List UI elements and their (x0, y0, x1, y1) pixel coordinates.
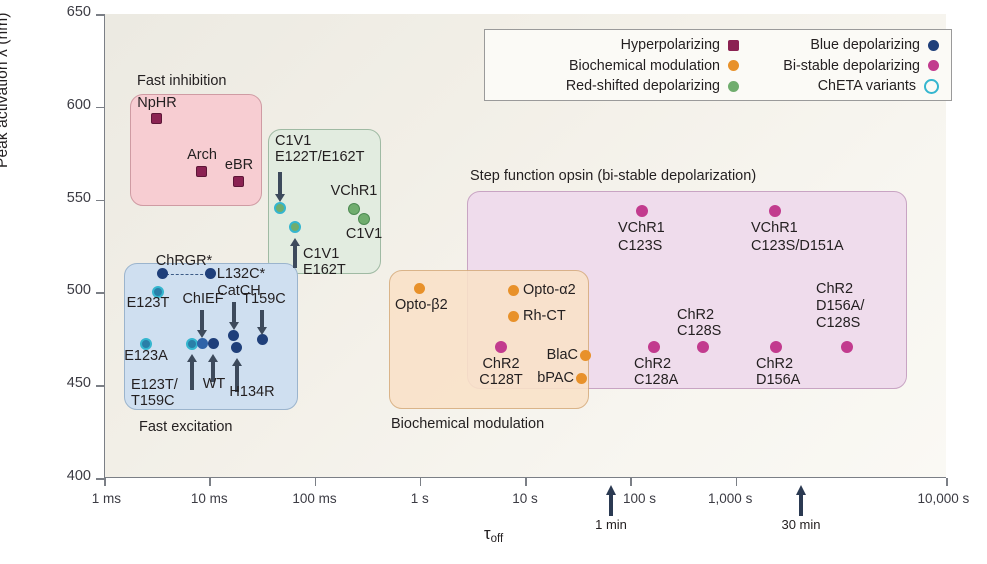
legend-row: Hyperpolarizing Blue depolarizing (491, 35, 941, 56)
y-tick-label: 600 (67, 97, 91, 113)
point-label-arch: Arch (187, 147, 217, 163)
point-label-e123t: E123T (127, 295, 170, 311)
legend-item-biochemical-modulation[interactable]: Biochemical modulation (491, 58, 739, 74)
point-label-ebr: eBR (225, 157, 253, 173)
data-point-h134r[interactable] (231, 342, 242, 353)
data-point-chrgr-left[interactable] (157, 268, 168, 279)
x-tick-mark (630, 478, 632, 486)
point-label-l132c: L132C* (217, 266, 265, 282)
data-point-c1v1-green[interactable] (358, 213, 370, 225)
data-point-chr2-c128t[interactable] (495, 341, 507, 353)
point-label-chrgr: ChRGR* (156, 253, 212, 269)
circle-marker-icon (728, 60, 739, 71)
data-point-t159c[interactable] (257, 334, 268, 345)
data-point-arch[interactable] (196, 166, 207, 177)
legend-label: Blue depolarizing (810, 37, 920, 53)
y-tick-400: 400 (0, 478, 104, 479)
circle-marker-icon (728, 81, 739, 92)
legend-label: Bi-stable depolarizing (783, 58, 920, 74)
data-point-ebr[interactable] (233, 176, 244, 187)
arrow-head (290, 238, 300, 246)
point-label-t159c: T159C (242, 291, 286, 307)
y-tick-mark (96, 14, 104, 16)
data-point-chr2-c128s[interactable] (697, 341, 709, 353)
arrow-stem (293, 246, 297, 268)
point-label-opto-a2: Opto-α2 (523, 282, 576, 298)
y-tick-mark (96, 478, 104, 480)
data-point-vchr1-c123s-d151a[interactable] (769, 205, 781, 217)
point-label-opto-b2: Opto-β2 (395, 297, 448, 313)
axis-marker-label: 1 min (595, 517, 627, 532)
point-label-c1v1-e162t-line1: C1V1 (303, 246, 339, 262)
point-label-vchr1-green: VChR1 (331, 183, 378, 199)
connector-chrgr (166, 274, 208, 275)
y-tick-mark (96, 385, 104, 387)
data-point-opto-a2[interactable] (508, 285, 519, 296)
y-tick-mark (96, 292, 104, 294)
point-label-h134r: H134R (229, 384, 274, 400)
chart-legend: Hyperpolarizing Blue depolarizing Bioche… (484, 29, 952, 101)
arrow-stem (200, 310, 204, 330)
point-label-e123t-t159c-line2: T159C (131, 393, 175, 409)
y-tick-650: 650 (0, 14, 104, 15)
data-point-nphr[interactable] (151, 113, 162, 124)
point-label-blac: BlaC (547, 347, 578, 363)
x-tick-mark (420, 478, 422, 486)
x-tick-mark (104, 478, 106, 486)
arrow-head (257, 327, 267, 335)
y-tick-label: 550 (67, 190, 91, 206)
group-label-fast-excitation: Fast excitation (139, 419, 233, 435)
square-marker-icon (728, 40, 739, 51)
data-point-bpac[interactable] (576, 373, 587, 384)
data-point-l132c-catch[interactable] (228, 330, 239, 341)
point-label-chr2-d156a-c128s-line2: D156A/ (816, 298, 864, 314)
data-point-blac[interactable] (580, 350, 591, 361)
point-label-chr2-c128t-line1: ChR2 (482, 356, 519, 372)
ring-marker-icon (924, 79, 939, 94)
legend-row: Red-shifted depolarizing ChETA variants (491, 76, 941, 97)
point-label-vchr1-c123s-line2: C123S (618, 238, 662, 254)
y-tick-500: 500 (0, 292, 104, 293)
y-axis-title: Peak activation λ (nm) (0, 12, 12, 168)
arrow-stem (799, 494, 803, 516)
x-axis-title-tau: τ (484, 524, 491, 543)
y-tick-mark (96, 107, 104, 109)
data-point-opto-b2[interactable] (414, 283, 425, 294)
x-tick-mark (946, 478, 948, 486)
arrow-stem (232, 302, 236, 322)
x-tick-mark (315, 478, 317, 486)
data-point-c1v1-e122t-e162t[interactable] (274, 202, 286, 214)
legend-item-cheta-variants[interactable]: ChETA variants (739, 78, 939, 94)
y-tick-label: 500 (67, 282, 91, 298)
point-label-vchr1-c123s-d151a-line2: C123S/D151A (751, 238, 844, 254)
point-label-c1v1-e162t-line2: E162T (303, 262, 346, 278)
x-tick-label: 10 s (512, 491, 538, 506)
legend-label: ChETA variants (818, 78, 916, 94)
point-label-chr2-c128a-line1: ChR2 (634, 356, 671, 372)
x-axis-title-sub: off (491, 533, 504, 545)
legend-label: Red-shifted depolarizing (566, 78, 720, 94)
legend-label: Biochemical modulation (569, 58, 720, 74)
legend-item-blue-depolarizing[interactable]: Blue depolarizing (739, 37, 939, 53)
figure-root: Peak activation λ (nm) 650 600 550 500 4… (0, 0, 987, 564)
point-label-bpac: bPAC (537, 370, 574, 386)
x-tick-mark (736, 478, 738, 486)
data-point-chrgr-right[interactable] (205, 268, 216, 279)
arrow-head (275, 194, 285, 202)
point-label-c1v1-e122t-e162t-line1: C1V1 (275, 133, 311, 149)
point-label-e123t-t159c-line1: E123T/ (131, 377, 178, 393)
arrow-head (208, 354, 218, 362)
point-label-vchr1-c123s-line1: VChR1 (618, 220, 665, 236)
y-tick-550: 550 (0, 200, 104, 201)
x-tick-mark (525, 478, 527, 486)
point-label-c1v1-green: C1V1 (346, 226, 382, 242)
y-tick-mark (96, 200, 104, 202)
group-label-step-function-opsin: Step function opsin (bi-stable depolariz… (470, 168, 756, 184)
arrow-head (229, 322, 239, 330)
x-tick-label: 1 s (411, 491, 429, 506)
arrow-stem (278, 172, 282, 194)
legend-item-bistable-depolarizing[interactable]: Bi-stable depolarizing (739, 58, 939, 74)
legend-item-red-shifted-depolarizing[interactable]: Red-shifted depolarizing (491, 78, 739, 94)
group-label-biochemical-modulation: Biochemical modulation (391, 416, 544, 432)
arrow-head (232, 358, 242, 366)
point-label-wt: WT (203, 376, 226, 392)
y-tick-label: 650 (67, 4, 91, 20)
point-label-chr2-c128a-line2: C128A (634, 372, 678, 388)
arrow-stem (190, 362, 194, 390)
data-point-chr2-d156a[interactable] (770, 341, 782, 353)
point-label-vchr1-c123s-d151a-line1: VChR1 (751, 220, 798, 236)
legend-label: Hyperpolarizing (621, 37, 720, 53)
point-label-chr2-d156a-c128s-line3: C128S (816, 315, 860, 331)
data-point-vchr1-c123s[interactable] (636, 205, 648, 217)
arrow-head (187, 354, 197, 362)
point-label-rh-ct: Rh-CT (523, 308, 566, 324)
point-label-chr2-c128s-line2: C128S (677, 323, 721, 339)
data-point-chr2-d156a-c128s[interactable] (841, 341, 853, 353)
x-tick-label: 1,000 s (708, 491, 752, 506)
circle-marker-icon (928, 40, 939, 51)
group-label-fast-inhibition: Fast inhibition (137, 73, 226, 89)
x-tick-label: 100 s (623, 491, 656, 506)
y-tick-label: 450 (67, 375, 91, 391)
point-label-chr2-c128t-line2: C128T (479, 372, 523, 388)
data-point-wt[interactable] (208, 338, 219, 349)
circle-marker-icon (928, 60, 939, 71)
x-tick-label: 1 ms (92, 491, 121, 506)
x-tick-label: 10 ms (191, 491, 228, 506)
legend-item-hyperpolarizing[interactable]: Hyperpolarizing (491, 37, 739, 53)
axis-marker-label: 30 min (781, 517, 820, 532)
x-tick-label: 100 ms (292, 491, 336, 506)
y-tick-600: 600 (0, 107, 104, 108)
point-label-chr2-d156a-line2: D156A (756, 372, 800, 388)
data-point-rh-ct[interactable] (508, 311, 519, 322)
y-tick-450: 450 (0, 385, 104, 386)
x-tick-mark (209, 478, 211, 486)
point-label-e123a: E123A (124, 348, 168, 364)
arrow-head (197, 330, 207, 338)
arrow-stem (260, 310, 264, 327)
point-label-chr2-d156a-c128s-line1: ChR2 (816, 281, 853, 297)
point-label-nphr: NpHR (137, 95, 176, 111)
arrow-stem (609, 494, 613, 516)
data-point-chr2-c128a[interactable] (648, 341, 660, 353)
point-label-chr2-d156a-line1: ChR2 (756, 356, 793, 372)
point-label-c1v1-e122t-e162t-line2: E122T/E162T (275, 149, 364, 165)
data-point-vchr1-green[interactable] (348, 203, 360, 215)
legend-row: Biochemical modulation Bi-stable depolar… (491, 56, 941, 77)
point-label-chr2-c128s-line1: ChR2 (677, 307, 714, 323)
x-axis-title: τoff (0, 524, 987, 545)
x-tick-label: 10,000 s (918, 491, 970, 506)
data-point-c1v1-e162t[interactable] (289, 221, 301, 233)
y-tick-label: 400 (67, 468, 91, 484)
data-point-chief[interactable] (197, 338, 208, 349)
